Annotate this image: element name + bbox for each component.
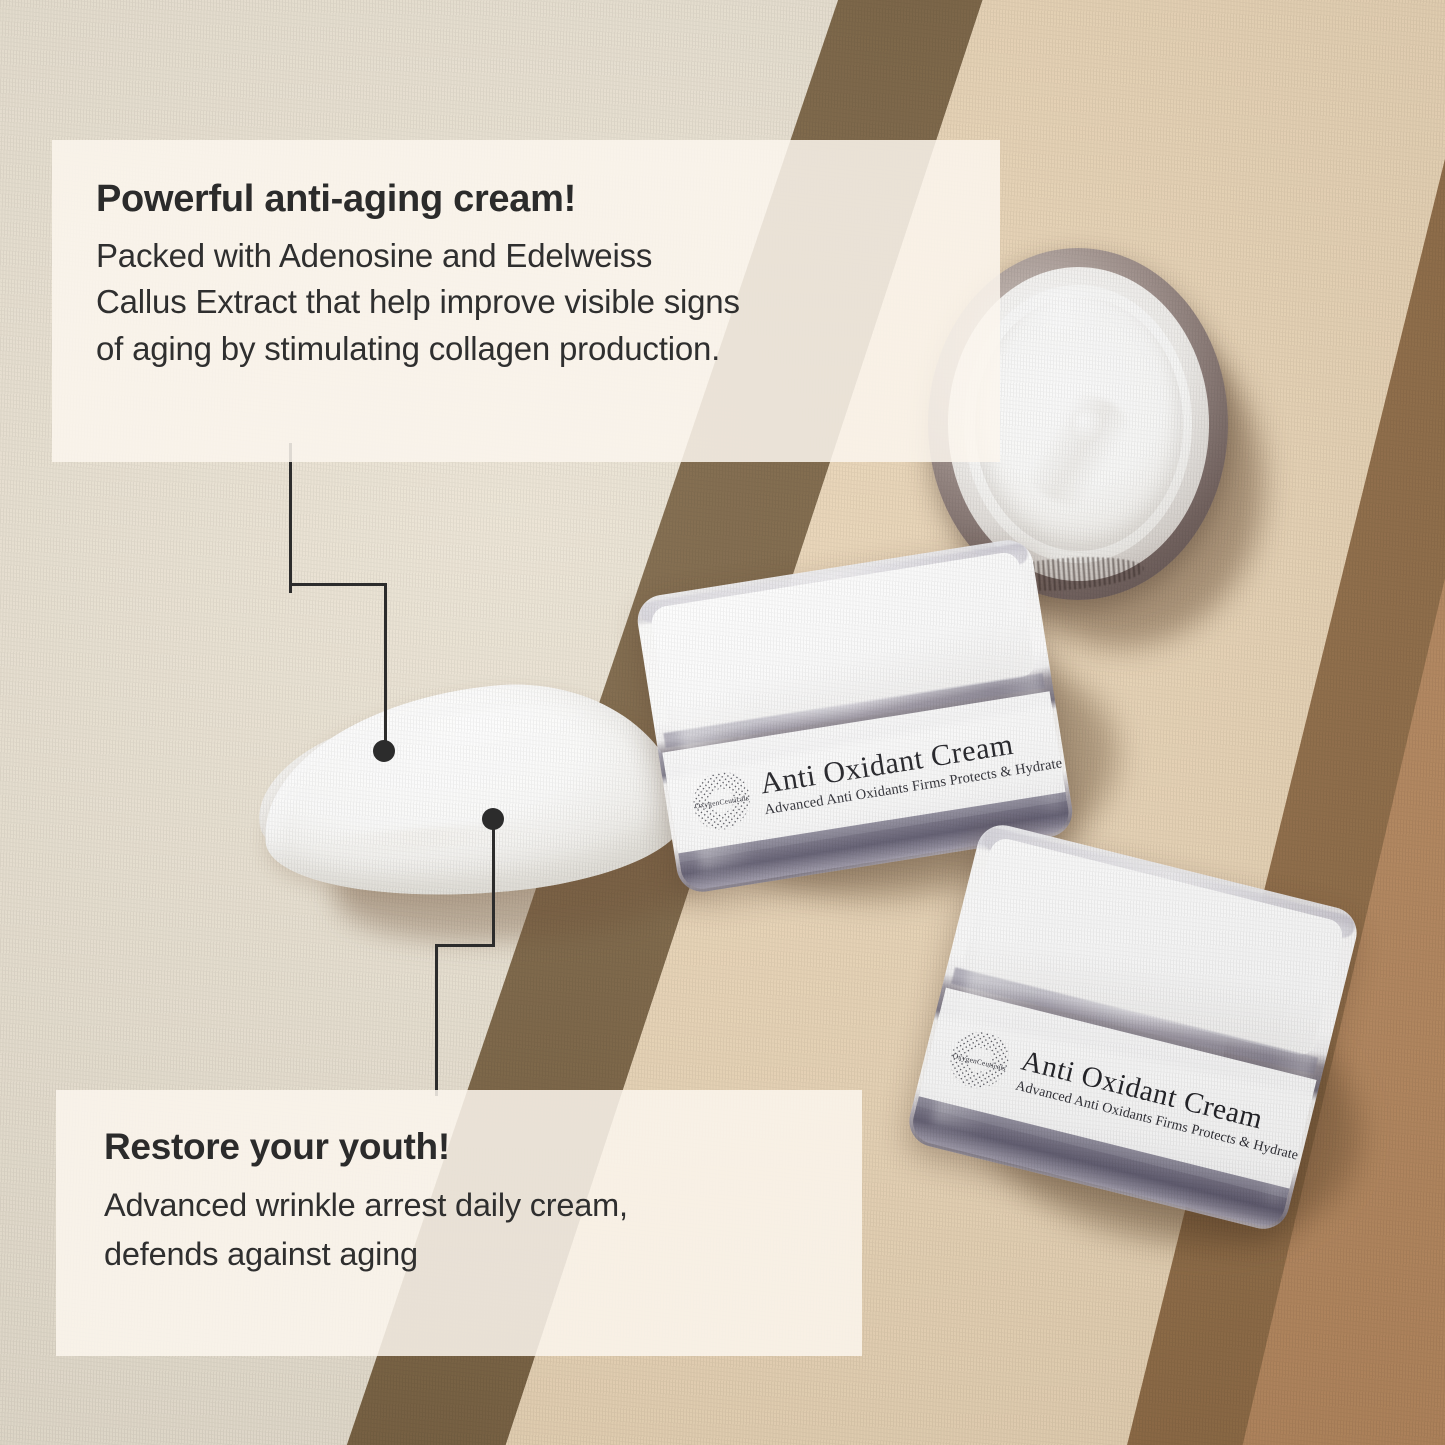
callout-bottom-heading: Restore your youth!	[104, 1126, 818, 1167]
callout-top-line-3: of aging by stimulating collagen product…	[96, 326, 956, 373]
brand-logo-icon: OxygenCeuticals	[942, 1023, 1017, 1098]
product-marketing-image: OxygenCeuticals Anti Oxidant Cream Advan…	[0, 0, 1445, 1445]
leader-line-top-vertical-1	[289, 443, 292, 593]
open-jar-cream-surface	[975, 297, 1184, 550]
leader-line-top-vertical-2	[384, 583, 387, 750]
callout-top-line-1: Packed with Adenosine and Edelweiss	[96, 233, 956, 280]
jar-label-text: Anti Oxidant Cream Advanced Anti Oxidant…	[758, 722, 1063, 819]
leader-line-bottom-vertical-1	[492, 828, 495, 945]
callout-bottom-line-1: Advanced wrinkle arrest daily cream,	[104, 1181, 818, 1229]
annotation-dot-upper	[373, 740, 395, 762]
brand-logo-icon: OxygenCeuticals	[686, 765, 757, 836]
callout-top-heading: Powerful anti-aging cream!	[96, 178, 956, 221]
callout-top-line-2: Callus Extract that help improve visible…	[96, 279, 956, 326]
annotation-dot-lower	[482, 808, 504, 830]
leader-line-top-horizontal	[289, 583, 387, 586]
leader-line-bottom-vertical-2	[435, 944, 438, 1096]
callout-bottom: Restore your youth! Advanced wrinkle arr…	[56, 1090, 862, 1356]
cream-smear	[262, 688, 682, 920]
cream-peak	[1070, 409, 1101, 442]
leader-line-bottom-horizontal	[435, 944, 495, 947]
callout-top: Powerful anti-aging cream! Packed with A…	[52, 140, 1000, 462]
callout-bottom-line-2: defends against aging	[104, 1230, 818, 1278]
